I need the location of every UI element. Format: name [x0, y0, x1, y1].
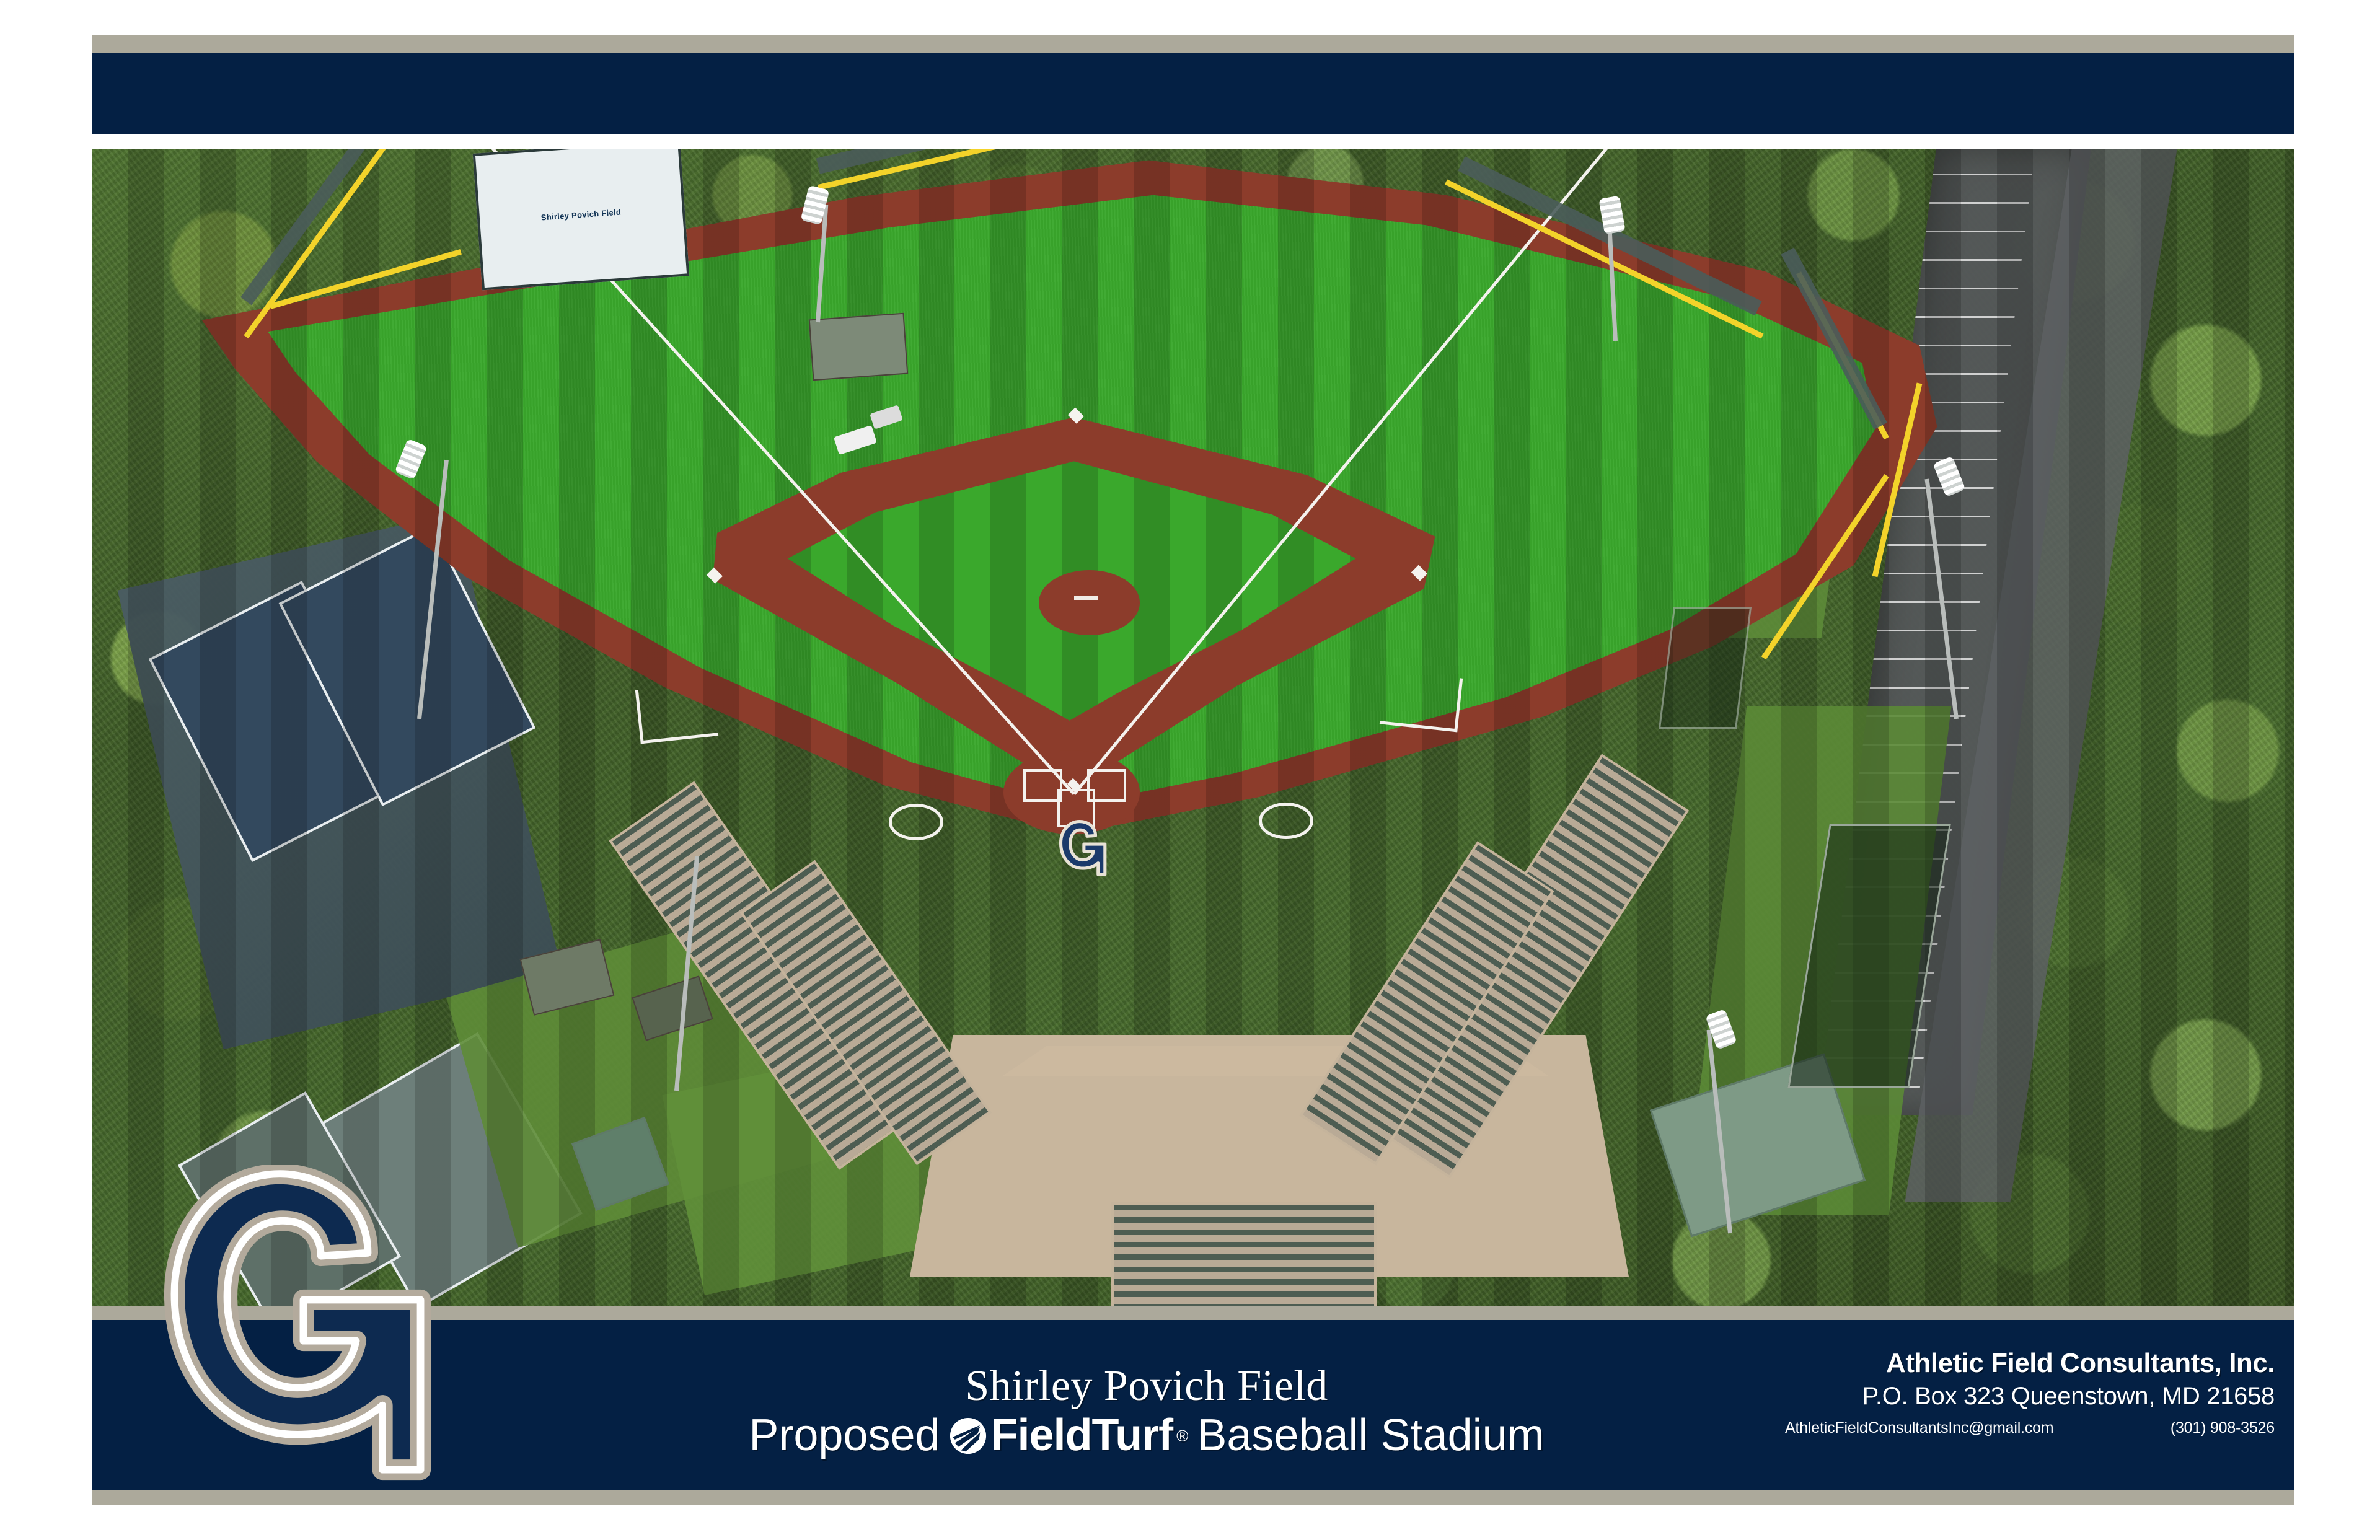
field-g-logo: [1034, 820, 1131, 878]
maintenance-building: [809, 313, 909, 381]
subtitle-prefix: Proposed: [749, 1412, 940, 1459]
scoreboard-text: Shirley Povich Field: [540, 208, 621, 222]
pitching-rubber: [1074, 596, 1098, 600]
fieldturf-logo: FieldTurf ®: [949, 1412, 1189, 1459]
on-deck-circle-left: [889, 804, 943, 840]
title-block: Shirley Povich Field Proposed FieldTurf …: [558, 1332, 1735, 1490]
company-email[interactable]: AthleticFieldConsultantsInc@gmail.com: [1785, 1419, 2053, 1437]
coaches-box-right: [1380, 671, 1463, 733]
company-phone[interactable]: (301) 908-3526: [2171, 1419, 2275, 1437]
batters-box-left: [1023, 769, 1062, 802]
bullpen-net: [1659, 607, 1752, 729]
bleacher-behind-home: [1111, 1202, 1377, 1306]
on-deck-circle-right: [1259, 803, 1313, 839]
coaches-box-left: [635, 682, 718, 744]
top-tan-bar: [92, 35, 2294, 53]
registered-mark: ®: [1176, 1428, 1188, 1445]
company-name: Athletic Field Consultants, Inc.: [1785, 1348, 2275, 1379]
project-title: Shirley Povich Field: [965, 1363, 1328, 1409]
scoreboard: Shirley Povich Field: [472, 149, 689, 291]
company-address: P.O. Box 323 Queenstown, MD 21658: [1785, 1383, 2275, 1410]
bottom-tan-bar-bottom: [92, 1490, 2294, 1505]
presentation-board: Shirley Povich Field: [0, 0, 2380, 1540]
project-subtitle: Proposed FieldTurf ® Baseball Stadium: [749, 1412, 1544, 1459]
brand-turf: Turf: [1092, 1410, 1173, 1460]
contact-row: AthleticFieldConsultantsInc@gmail.com (3…: [1785, 1419, 2275, 1437]
contact-block: Athletic Field Consultants, Inc. P.O. Bo…: [1785, 1348, 2275, 1437]
georgetown-g-logo: [124, 1165, 471, 1487]
fieldturf-wordmark: FieldTurf: [991, 1412, 1173, 1459]
fieldturf-swoosh-icon: [949, 1417, 987, 1455]
pitchers-mound: [1039, 570, 1140, 635]
brand-field: Field: [991, 1410, 1092, 1460]
aerial-stadium-photo: Shirley Povich Field: [92, 149, 2294, 1306]
subtitle-suffix: Baseball Stadium: [1197, 1412, 1544, 1459]
top-navy-bar: [92, 53, 2294, 134]
